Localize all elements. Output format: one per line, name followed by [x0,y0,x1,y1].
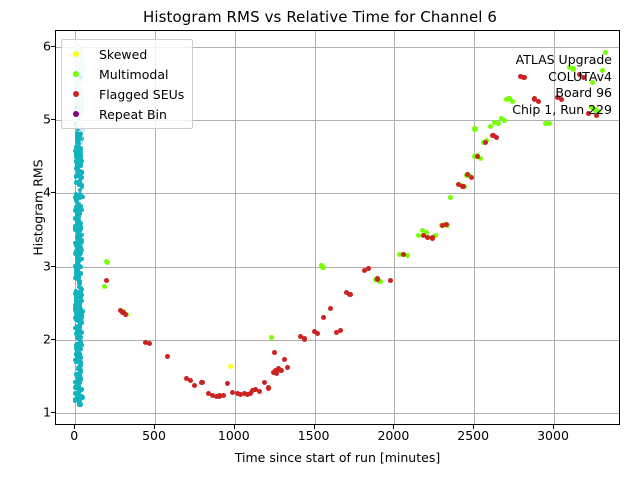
baseline-point [74,314,79,319]
baseline-point [77,389,82,394]
y-tick-mark [51,266,55,267]
data-point-flagged-seus [321,315,326,320]
legend-swatch-icon [73,51,79,57]
data-point-flagged-seus [302,336,307,341]
baseline-point [74,174,79,179]
legend-label: Repeat Bin [99,107,167,122]
baseline-point [77,342,82,347]
x-tick-label: 500 [142,428,166,443]
data-point-flagged-seus [192,383,197,388]
legend-item-skewed[interactable]: Skewed [67,44,184,64]
y-tick-mark [51,119,55,120]
baseline-point [74,205,79,210]
x-tick-label: 1500 [298,428,330,443]
legend-swatch-icon [73,71,79,77]
data-point-flagged-seus [221,393,226,398]
annotation-line-1: ATLAS Upgrade [512,52,612,69]
data-point-flagged-seus [225,381,230,386]
data-point-flagged-seus [257,389,262,394]
baseline-point [78,360,83,365]
baseline-point [73,385,78,390]
baseline-point [78,396,83,401]
data-point-multimodal [502,118,507,123]
legend-label: Skewed [99,47,147,62]
baseline-point [77,194,82,199]
data-point-flagged-seus [494,135,499,140]
legend[interactable]: SkewedMultimodalFlagged SEUsRepeat Bin [61,39,193,129]
x-axis-label: Time since start of run [minutes] [55,450,620,465]
annotation-line-2: COLUTAv4 [512,69,612,86]
data-point-flagged-seus [123,312,128,317]
annotation-line-3: Board 96 [512,85,612,102]
data-point-multimodal [405,253,410,258]
baseline-point [77,403,82,408]
data-point-multimodal [102,284,107,289]
data-point-multimodal [319,263,324,268]
gridline-horizontal [56,193,619,194]
annotation-block: ATLAS UpgradeCOLUTAv4Board 96Chip 1, Run… [512,52,612,118]
data-point-flagged-seus [315,331,320,336]
data-point-flagged-seus [388,278,393,283]
data-point-flagged-seus [272,350,277,355]
gridline-horizontal [56,413,619,414]
data-point-flagged-seus [366,266,371,271]
y-tick-mark [51,46,55,47]
figure-canvas: Histogram RMS vs Relative Time for Chann… [0,0,640,480]
baseline-point [75,272,80,277]
data-point-multimodal [105,260,110,265]
legend-swatch-icon [73,91,79,97]
annotation-line-4: Chip 1, Run 229 [512,102,612,119]
data-point-flagged-seus [285,365,290,370]
legend-item-repeat-bin[interactable]: Repeat Bin [67,104,184,124]
x-tick-label: 3000 [537,428,569,443]
gridline-vertical [315,31,316,424]
data-point-multimodal [547,121,552,126]
data-point-flagged-seus [165,354,170,359]
legend-label: Multimodal [99,67,168,82]
baseline-point [77,156,82,161]
y-tick-mark [51,339,55,340]
data-point-skewed [228,364,233,369]
y-tick-mark [51,192,55,193]
baseline-point [77,264,82,269]
baseline-point [74,249,79,254]
baseline-point [78,132,83,137]
data-point-flagged-seus [199,380,204,385]
x-tick-label: 2000 [377,428,409,443]
chart-title: Histogram RMS vs Relative Time for Chann… [0,8,640,26]
baseline-point [76,268,81,273]
x-tick-label: 0 [70,428,78,443]
data-point-flagged-seus [282,357,287,362]
data-point-flagged-seus [430,235,435,240]
data-point-flagged-seus [338,328,343,333]
data-point-flagged-seus [188,378,193,383]
data-point-flagged-seus [375,276,380,281]
data-point-multimodal [448,195,453,200]
data-point-flagged-seus [460,184,465,189]
gridline-horizontal [56,340,619,341]
baseline-point [78,303,83,308]
y-tick-mark [51,412,55,413]
baseline-point [76,366,81,371]
data-point-flagged-seus [328,306,333,311]
data-point-flagged-seus [347,292,352,297]
data-point-flagged-seus [266,385,271,390]
baseline-point [76,379,81,384]
gridline-vertical [394,31,395,424]
data-point-multimodal [496,121,501,126]
baseline-point [78,245,83,250]
baseline-point [76,230,81,235]
y-axis-label: Histogram RMS [31,78,46,338]
data-point-flagged-seus [104,278,109,283]
legend-label: Flagged SEUs [99,87,184,102]
legend-swatch-icon [73,111,79,117]
gridline-horizontal [56,267,619,268]
baseline-point [78,221,83,226]
gridline-vertical [474,31,475,424]
x-tick-label: 1000 [218,428,250,443]
data-point-multimodal [472,126,477,131]
data-point-flagged-seus [278,368,283,373]
baseline-point [76,259,81,264]
baseline-point [77,335,82,340]
gridline-vertical [235,31,236,424]
legend-item-flagged-seus[interactable]: Flagged SEUs [67,84,184,104]
data-point-flagged-seus [444,222,449,227]
baseline-point [74,360,79,365]
data-point-flagged-seus [483,140,488,145]
legend-item-multimodal[interactable]: Multimodal [67,64,184,84]
data-point-flagged-seus [147,341,152,346]
x-tick-label: 2500 [457,428,489,443]
data-point-flagged-seus [425,235,430,240]
